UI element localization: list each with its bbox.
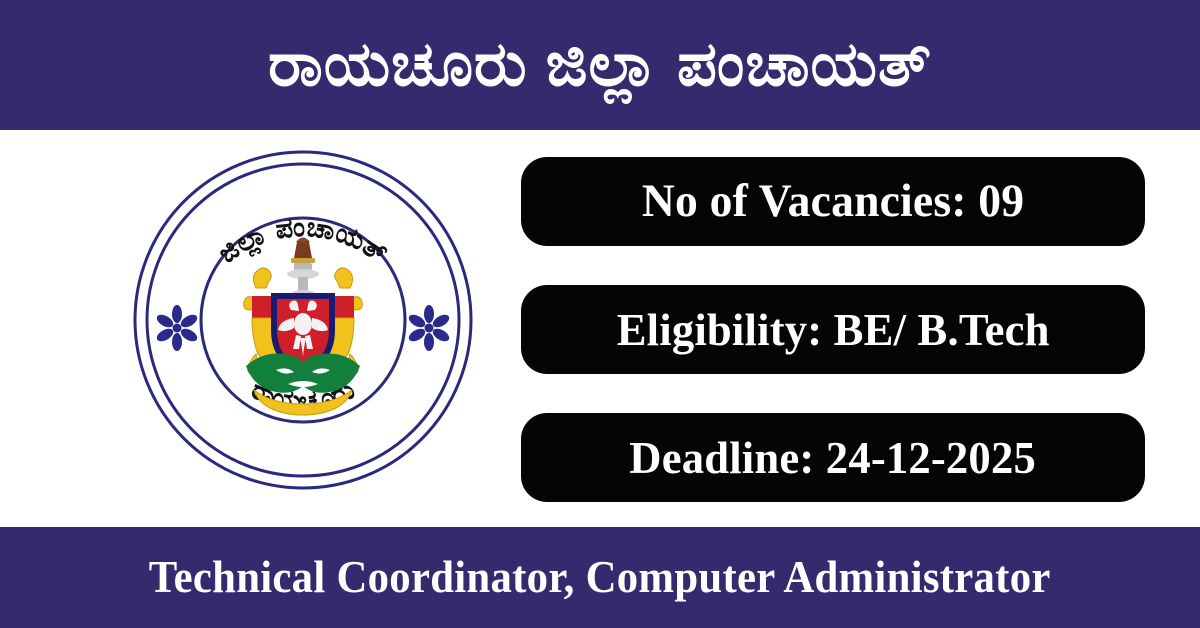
- zilla-panchayat-seal-icon: ಜಿಲ್ಲಾ ಪಂಚಾಯತ್ ರಾಯಚೂರು: [128, 138, 478, 498]
- vacancies-pill: No of Vacancies: 09: [521, 157, 1145, 246]
- header-bar: ರಾಯಚೂರು ಜಿಲ್ಲಾ ಪಂಚಾಯತ್: [0, 0, 1200, 130]
- body-region: ಜಿಲ್ಲಾ ಪಂಚಾಯತ್ ರಾಯಚೂರು: [0, 130, 1200, 527]
- post-names-label: Technical Coordinator, Computer Administ…: [149, 555, 1051, 600]
- eligibility-label: Eligibility: BE/ B.Tech: [616, 307, 1049, 353]
- vacancies-label: No of Vacancies: 09: [642, 178, 1024, 225]
- page-title: ರಾಯಚೂರು ಜಿಲ್ಲಾ ಪಂಚಾಯತ್: [268, 32, 932, 97]
- eligibility-pill: Eligibility: BE/ B.Tech: [521, 285, 1145, 374]
- seal-graphic: ಜಿಲ್ಲಾ ಪಂಚಾಯತ್ ರಾಯಚೂರು: [128, 138, 478, 498]
- footer-bar: Technical Coordinator, Computer Administ…: [0, 527, 1200, 628]
- deadline-label: Deadline: 24-12-2025: [630, 435, 1037, 481]
- recruitment-banner: ರಾಯಚೂರು ಜಿಲ್ಲಾ ಪಂಚಾಯತ್ ಜಿಲ್ಲಾ ಪಂಚಾಯತ್: [0, 0, 1200, 628]
- deadline-pill: Deadline: 24-12-2025: [521, 413, 1145, 502]
- info-pill-stack: No of Vacancies: 09 Eligibility: BE/ B.T…: [521, 157, 1145, 502]
